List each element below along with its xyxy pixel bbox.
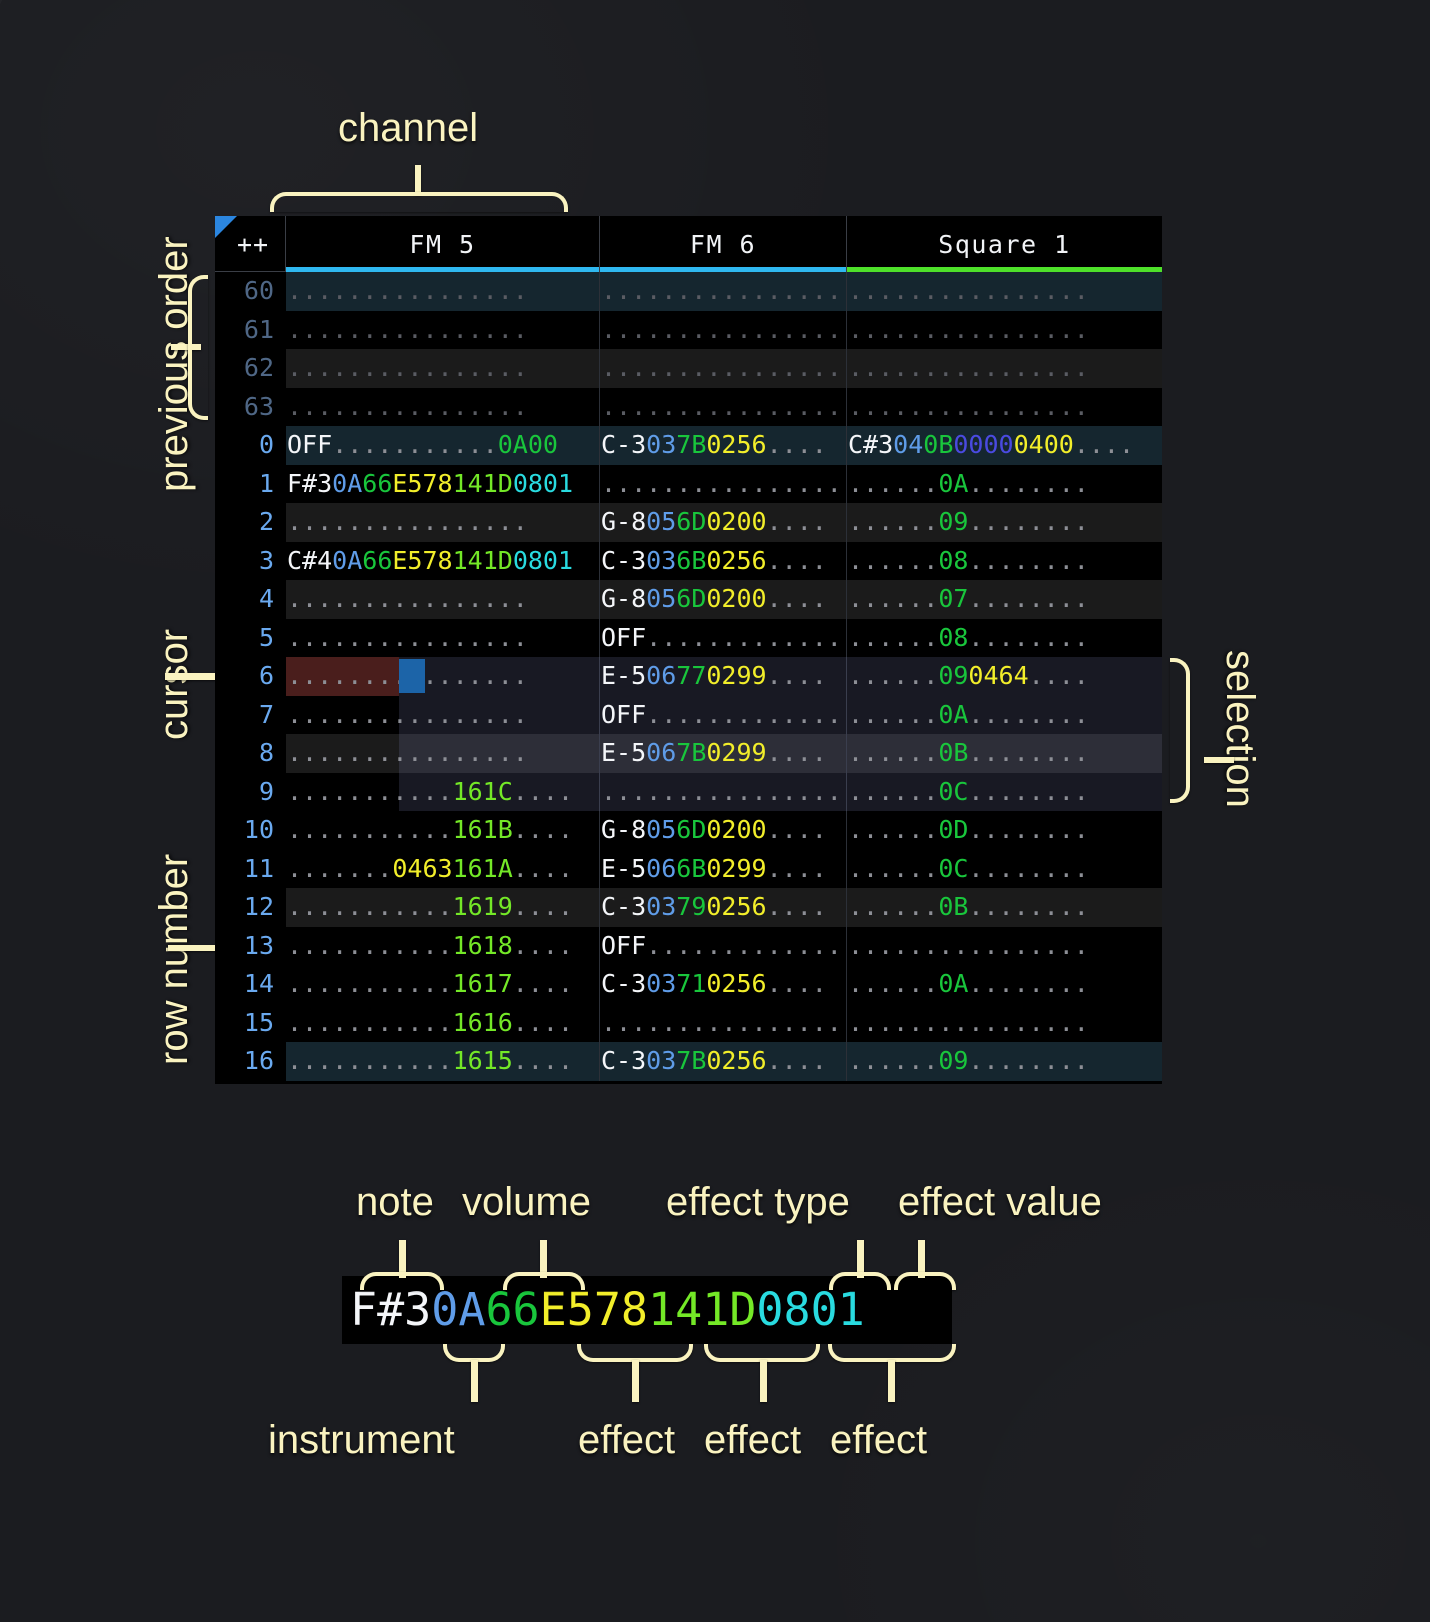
cell-token: 03	[646, 892, 676, 921]
cell-token: ....	[513, 1046, 573, 1075]
cell-text: ................	[286, 734, 528, 773]
row-number: 5	[215, 619, 286, 658]
channel-header-fm6[interactable]: FM 6	[600, 216, 847, 272]
channel-header-square1[interactable]: Square 1	[847, 216, 1162, 272]
cell-text: G-8056D0200....	[600, 580, 827, 619]
cell-token: 0200	[706, 507, 766, 536]
pattern-cell[interactable]: G-8056D0200....	[600, 811, 847, 850]
pattern-cell[interactable]: OFF.............	[600, 619, 847, 658]
cell-token: .............	[646, 623, 842, 652]
cell-token: ....	[392, 777, 452, 806]
cell-token: ................	[848, 315, 1089, 344]
pattern-row[interactable]: 15...........1616.......................…	[215, 1004, 1162, 1043]
cell-token: 141	[453, 546, 498, 575]
cell-token: 6D	[676, 815, 706, 844]
pattern-row[interactable]: 5................OFF...................0…	[215, 619, 1162, 658]
cell-token: 04	[893, 430, 923, 459]
pattern-cell[interactable]: OFF.............	[600, 696, 847, 735]
cell-token: 7B	[676, 1046, 706, 1075]
order-corner-cell[interactable]: ++	[215, 216, 286, 272]
cell-token: 0C	[938, 854, 968, 883]
pattern-cell[interactable]: C#40A66E578141D0801	[286, 542, 600, 581]
row-number: 7	[215, 696, 286, 735]
cell-token: 0200	[706, 584, 766, 613]
annotation-effect-2: effect	[704, 1418, 801, 1463]
cell-text: ................	[600, 349, 842, 388]
cell-token: 0B	[938, 892, 968, 921]
cell-token: ......	[848, 661, 938, 690]
legend-token: E578	[540, 1283, 648, 1336]
row-number: 61	[215, 311, 286, 350]
cell-token: 6B	[676, 546, 706, 575]
row-number: 62	[215, 349, 286, 388]
pattern-row[interactable]: 8................E-5067B0299..........0B…	[215, 734, 1162, 773]
cell-token: E578	[392, 546, 452, 575]
row-number: 11	[215, 850, 286, 889]
cell-text: ......08........	[847, 542, 1089, 581]
cell-token: ......	[848, 969, 938, 998]
cell-token: ........	[968, 854, 1088, 883]
cell-text: ................	[600, 1004, 842, 1043]
cell-token: 0B	[923, 430, 953, 459]
cursor-block[interactable]	[399, 659, 425, 693]
annotation-effect3-stem	[888, 1360, 895, 1402]
row-cells: ................G-8056D0200..........07.…	[286, 580, 1162, 619]
cell-text: ......0B........	[847, 734, 1089, 773]
row-cells: OFF...........0A00C-3037B0256....C#3040B…	[286, 426, 1162, 465]
annotation-effect-1: effect	[578, 1418, 675, 1463]
annotation-effect-value: effect value	[898, 1180, 1102, 1225]
row-number: 4	[215, 580, 286, 619]
cell-token: 0C	[938, 777, 968, 806]
annotation-volume-brace	[503, 1272, 585, 1290]
pattern-cell[interactable]: ................	[286, 349, 600, 388]
cell-text: ................	[286, 388, 528, 427]
cell-token: C-3	[601, 892, 646, 921]
annotation-row-number: row number	[152, 854, 197, 1065]
row-cells: ................OFF...................0A…	[286, 696, 1162, 735]
cell-token: ......	[848, 854, 938, 883]
pattern-cell[interactable]: ................	[286, 388, 600, 427]
pattern-cell[interactable]: C-3037B0256....	[600, 1042, 847, 1081]
pattern-cell[interactable]: ................	[600, 1004, 847, 1043]
cell-text: ......0A........	[847, 465, 1089, 504]
cell-text: OFF.............	[600, 619, 842, 658]
pattern-cell[interactable]: ................	[600, 311, 847, 350]
cell-token: ................	[601, 1008, 842, 1037]
cell-text: E-506770299....	[600, 657, 827, 696]
row-cells: ................G-8056D0200..........09.…	[286, 503, 1162, 542]
row-number: 1	[215, 465, 286, 504]
cell-token: ................	[601, 777, 842, 806]
cell-text: ................	[286, 349, 528, 388]
cell-token: 0200	[706, 815, 766, 844]
cell-token: ...........	[287, 1046, 453, 1075]
annotation-selection: selection	[1217, 650, 1262, 808]
pattern-cell[interactable]: E-5067B0299....	[600, 734, 847, 773]
row-cells: ...........1616.........................…	[286, 1004, 1162, 1043]
cell-token: ....	[767, 661, 827, 690]
cell-text: ...........1619....	[286, 888, 573, 927]
cell-token: 05	[646, 584, 676, 613]
cell-token: 7B	[676, 430, 706, 459]
cell-token: 06	[646, 738, 676, 767]
cell-token: 0A	[938, 469, 968, 498]
cell-token: ........	[968, 700, 1088, 729]
cell-token: 09	[938, 1046, 968, 1075]
cell-text: ................	[847, 272, 1089, 311]
pattern-cell[interactable]: C-3037B0256....	[600, 426, 847, 465]
cell-token: 0A	[938, 969, 968, 998]
pattern-row[interactable]: 1F#30A66E578141D0801....................…	[215, 465, 1162, 504]
cell-token: ........	[968, 777, 1088, 806]
cell-text: ......0B........	[847, 888, 1089, 927]
cell-token: 0400	[1014, 430, 1074, 459]
cell-token: ....	[767, 815, 827, 844]
row-cells: ........................................…	[286, 349, 1162, 388]
cell-text: ................	[847, 1004, 1089, 1043]
pattern-cell[interactable]: ...........1617....	[286, 965, 600, 1004]
cell-token: ................	[848, 353, 1089, 382]
row-number: 60	[215, 272, 286, 311]
cell-token: ...........	[287, 892, 453, 921]
cell-token: 0256	[706, 430, 766, 459]
cell-token: ................	[601, 276, 842, 305]
cell-token: 6D	[676, 584, 706, 613]
pattern-row[interactable]: 62......................................…	[215, 349, 1162, 388]
cell-token: ....	[767, 546, 827, 575]
pattern-cell[interactable]: C-3036B0256....	[600, 542, 847, 581]
pattern-cell[interactable]: ................	[847, 388, 1162, 427]
cell-text: ................	[847, 927, 1089, 966]
cell-token: 66	[362, 546, 392, 575]
cell-text: ................	[286, 696, 528, 735]
pattern-row[interactable]: 9...........161C........................…	[215, 773, 1162, 812]
cell-token: 0000	[953, 430, 1013, 459]
cell-text: C#3040B00000400....	[847, 426, 1134, 465]
row-cells: ........................................…	[286, 311, 1162, 350]
pattern-cell[interactable]: ......09........	[847, 503, 1162, 542]
cell-token: 03	[646, 1046, 676, 1075]
cell-token: ................	[287, 584, 528, 613]
cell-token: 1619	[453, 892, 513, 921]
pattern-cell[interactable]: ................	[286, 272, 600, 311]
cell-text: ......09........	[847, 1042, 1089, 1081]
channel-header-fm6-label: FM 6	[690, 230, 756, 259]
cell-token: OFF	[601, 931, 646, 960]
annotation-instrument-stem	[471, 1360, 478, 1402]
pattern-cell[interactable]: E-506770299....	[600, 657, 847, 696]
pattern-cell[interactable]: ................	[286, 619, 600, 658]
pattern-cell[interactable]: ...........1619....	[286, 888, 600, 927]
pattern-cell[interactable]: ......08........	[847, 542, 1162, 581]
pattern-cell[interactable]: OFF.............	[600, 927, 847, 966]
pattern-row[interactable]: 16...........1615....C-3037B0256........…	[215, 1042, 1162, 1081]
cell-token: .............	[646, 700, 842, 729]
annotation-effect2-stem	[760, 1360, 767, 1402]
cell-token: ................	[848, 931, 1089, 960]
cell-token: OFF	[287, 430, 332, 459]
legend-token: F#3	[350, 1283, 431, 1336]
cell-token: ........	[968, 469, 1088, 498]
cell-token: C-3	[601, 430, 646, 459]
pattern-cell[interactable]: .......0463161A....	[286, 850, 600, 889]
pattern-row[interactable]: 10...........161B....G-8056D0200........…	[215, 811, 1162, 850]
cell-token: ................	[848, 276, 1089, 305]
cell-token: .............	[646, 931, 842, 960]
cell-text: ......0C........	[847, 773, 1089, 812]
pattern-row[interactable]: 6................E-506770299..........09…	[215, 657, 1162, 696]
cell-token: 6B	[676, 854, 706, 883]
legend-token: 66	[485, 1283, 539, 1336]
pattern-cell[interactable]: ................	[847, 272, 1162, 311]
cell-text: OFF.............	[600, 696, 842, 735]
cell-token: ....	[1074, 430, 1134, 459]
cell-token: 66	[362, 469, 392, 498]
pattern-cell[interactable]: ......0C........	[847, 850, 1162, 889]
cell-token: 0299	[706, 661, 766, 690]
cell-text: C-3037B0256....	[600, 1042, 827, 1081]
pattern-editor[interactable]: ++ FM 5 FM 6 Square 1 60................…	[215, 216, 1162, 1084]
cell-token: .......	[287, 777, 392, 806]
cell-token: 1617	[453, 969, 513, 998]
cell-text: E-5067B0299....	[600, 734, 827, 773]
cell-token: 03	[646, 969, 676, 998]
cell-token: ......	[848, 546, 938, 575]
cell-token: ................	[287, 315, 528, 344]
cell-token: 0A	[332, 546, 362, 575]
cell-token: ....	[513, 931, 573, 960]
cell-token: D	[498, 546, 513, 575]
cell-text: ...........1615....	[286, 1042, 573, 1081]
channel-header-fm5[interactable]: FM 5	[286, 216, 600, 272]
cell-token: ................	[287, 700, 528, 729]
cell-token: C-3	[601, 1046, 646, 1075]
row-number: 2	[215, 503, 286, 542]
pattern-row[interactable]: 4................G-8056D0200..........07…	[215, 580, 1162, 619]
cell-token: ................	[848, 1008, 1089, 1037]
cell-token: 03	[646, 546, 676, 575]
pattern-cell[interactable]: ......0B........	[847, 888, 1162, 927]
order-marker-triangle-icon	[215, 216, 237, 238]
cell-token: ...........	[287, 931, 453, 960]
annotation-effect-type: effect type	[666, 1180, 850, 1225]
pattern-row[interactable]: 2................G-8056D0200..........09…	[215, 503, 1162, 542]
cell-text: ................	[286, 580, 528, 619]
pattern-row[interactable]: 14...........1617....C-303710256........…	[215, 965, 1162, 1004]
pattern-cell[interactable]: ................	[286, 503, 600, 542]
cell-token: E-5	[601, 738, 646, 767]
pattern-cell[interactable]: G-8056D0200....	[600, 580, 847, 619]
cell-text: C-3036B0256....	[600, 542, 827, 581]
pattern-row[interactable]: 61......................................…	[215, 311, 1162, 350]
pattern-cell[interactable]: ...........1616....	[286, 1004, 600, 1043]
row-cells: ...........161C.........................…	[286, 773, 1162, 812]
cell-token: ....	[513, 854, 573, 883]
cell-text: OFF.............	[600, 927, 842, 966]
cell-token: E-5	[601, 661, 646, 690]
row-number: 14	[215, 965, 286, 1004]
pattern-cell[interactable]: ................	[847, 311, 1162, 350]
cell-text: ......0A........	[847, 696, 1089, 735]
cell-token: .......	[287, 854, 392, 883]
cell-text: G-8056D0200....	[600, 811, 827, 850]
cell-token: 06	[646, 854, 676, 883]
cell-text: C-303710256....	[600, 965, 827, 1004]
pattern-cell[interactable]: ................	[600, 773, 847, 812]
pattern-rows[interactable]: 60......................................…	[215, 272, 1162, 1081]
cell-token: ....	[513, 777, 573, 806]
pattern-cell[interactable]: ................	[600, 349, 847, 388]
annotation-note-brace	[360, 1272, 444, 1290]
cell-text: ................	[286, 503, 528, 542]
cell-token: 0463	[392, 854, 452, 883]
pattern-cell[interactable]: ......08........	[847, 619, 1162, 658]
cell-token: 0256	[706, 1046, 766, 1075]
pattern-cell[interactable]: ................	[847, 1004, 1162, 1043]
pattern-row[interactable]: 12...........1619....C-303790256........…	[215, 888, 1162, 927]
pattern-cell[interactable]: ................	[847, 927, 1162, 966]
row-number: 6	[215, 657, 286, 696]
pattern-cell[interactable]: E-5066B0299....	[600, 850, 847, 889]
pattern-cell[interactable]: C-303790256....	[600, 888, 847, 927]
cell-token: ....	[767, 430, 827, 459]
cell-token: 71	[676, 969, 706, 998]
cell-token: 141	[453, 469, 498, 498]
pattern-cell[interactable]: C#3040B00000400....	[847, 426, 1162, 465]
row-number: 13	[215, 927, 286, 966]
cell-text: ................	[286, 619, 528, 658]
cell-token: E578	[392, 469, 452, 498]
cell-token: ........	[968, 738, 1088, 767]
pattern-row[interactable]: 11.......0463161A....E-5066B0299........…	[215, 850, 1162, 889]
pattern-cell[interactable]: ...........1615....	[286, 1042, 600, 1081]
annotation-effect1-stem	[632, 1360, 639, 1402]
cell-text: F#30A66E578141D0801	[286, 465, 573, 504]
cell-text: ...........161B....	[286, 811, 573, 850]
pattern-cell[interactable]: ......07........	[847, 580, 1162, 619]
cell-token: 05	[646, 815, 676, 844]
cell-token: G-8	[601, 584, 646, 613]
pattern-cell[interactable]: ................	[286, 311, 600, 350]
cell-token: F#3	[287, 469, 332, 498]
legend-token: D	[729, 1283, 756, 1336]
pattern-cell[interactable]: ...........161B....	[286, 811, 600, 850]
cell-text: ......090464....	[847, 657, 1089, 696]
cell-text: ................	[847, 311, 1089, 350]
row-number: 8	[215, 734, 286, 773]
pattern-cell[interactable]: ......09........	[847, 1042, 1162, 1081]
annotation-volume: volume	[462, 1180, 591, 1225]
pattern-cell[interactable]: ................	[847, 349, 1162, 388]
cell-token: 0B	[938, 738, 968, 767]
row-cells: C#40A66E578141D0801C-3036B0256..........…	[286, 542, 1162, 581]
pattern-row[interactable]: 0OFF...........0A00C-3037B0256....C#3040…	[215, 426, 1162, 465]
cell-text: ...........161C....	[286, 773, 573, 812]
annotation-channel-brace	[270, 192, 568, 212]
cell-token: ................	[287, 507, 528, 536]
cell-token: 0256	[706, 892, 766, 921]
cell-token: 7B	[676, 738, 706, 767]
legend-token: 0801	[756, 1283, 864, 1336]
annotation-instrument: instrument	[268, 1418, 455, 1463]
cell-token: ....	[513, 815, 573, 844]
row-cells: ...........161B....G-8056D0200..........…	[286, 811, 1162, 850]
cell-token: ....	[767, 738, 827, 767]
cell-text: ................	[600, 272, 842, 311]
cell-token: ......	[848, 815, 938, 844]
cell-token: ......	[848, 623, 938, 652]
cell-token: ....	[767, 854, 827, 883]
cell-token: C#4	[287, 546, 332, 575]
cell-token: ........	[968, 1046, 1088, 1075]
cell-text: C#40A66E578141D0801	[286, 542, 573, 581]
row-cells: ................E-5067B0299..........0B.…	[286, 734, 1162, 773]
pattern-cell[interactable]: ......0D........	[847, 811, 1162, 850]
cell-text: E-5066B0299....	[600, 850, 827, 889]
cell-token: ................	[601, 392, 842, 421]
cell-token: ...........	[287, 1008, 453, 1037]
cell-token: ....	[513, 892, 573, 921]
cell-token: C-3	[601, 546, 646, 575]
row-cells: .......0463161A....E-5066B0299..........…	[286, 850, 1162, 889]
row-number: 3	[215, 542, 286, 581]
cell-text: ................	[600, 465, 842, 504]
pattern-row[interactable]: 13...........1618....OFF................…	[215, 927, 1162, 966]
annotation-channel: channel	[338, 106, 478, 151]
cell-token: ....	[513, 969, 573, 998]
pattern-cell[interactable]: OFF...........0A00	[286, 426, 600, 465]
cell-text: .......0463161A....	[286, 850, 573, 889]
pattern-cell[interactable]: ......0A........	[847, 465, 1162, 504]
cell-text: ...........1617....	[286, 965, 573, 1004]
cell-token: G-8	[601, 815, 646, 844]
row-number: 10	[215, 811, 286, 850]
cell-token: 0464	[968, 661, 1028, 690]
cell-text: ................	[600, 773, 842, 812]
cell-token: 6D	[676, 507, 706, 536]
cell-token: ........	[968, 815, 1088, 844]
cell-token: ........	[968, 623, 1088, 652]
pattern-cell[interactable]: ...........161C....	[286, 773, 600, 812]
cell-text: ......09........	[847, 503, 1089, 542]
pattern-cell[interactable]: F#30A66E578141D0801	[286, 465, 600, 504]
pattern-cell[interactable]: ...........1618....	[286, 927, 600, 966]
cell-token: ......	[848, 1046, 938, 1075]
pattern-row[interactable]: 60......................................…	[215, 272, 1162, 311]
row-number: 9	[215, 773, 286, 812]
pattern-cell[interactable]: ................	[600, 465, 847, 504]
pattern-cell[interactable]: ......0A........	[847, 965, 1162, 1004]
pattern-cell[interactable]: G-8056D0200....	[600, 503, 847, 542]
cell-token: 05	[646, 507, 676, 536]
cell-token: ................	[287, 353, 528, 382]
pattern-cell[interactable]: ................	[600, 272, 847, 311]
cell-token: ....	[767, 507, 827, 536]
cell-token: ................	[848, 392, 1089, 421]
row-number: 12	[215, 888, 286, 927]
legend-token: 141	[648, 1283, 729, 1336]
pattern-row[interactable]: 7................OFF...................0…	[215, 696, 1162, 735]
pattern-cell[interactable]: ................	[286, 580, 600, 619]
pattern-cell[interactable]: ................	[600, 388, 847, 427]
pattern-row[interactable]: 63......................................…	[215, 388, 1162, 427]
row-cells: ...........1619....C-303790256..........…	[286, 888, 1162, 927]
cell-token: ........	[968, 969, 1088, 998]
cell-token: 1618	[453, 931, 513, 960]
pattern-cell[interactable]: C-303710256....	[600, 965, 847, 1004]
pattern-row[interactable]: 3C#40A66E578141D0801C-3036B0256.........…	[215, 542, 1162, 581]
